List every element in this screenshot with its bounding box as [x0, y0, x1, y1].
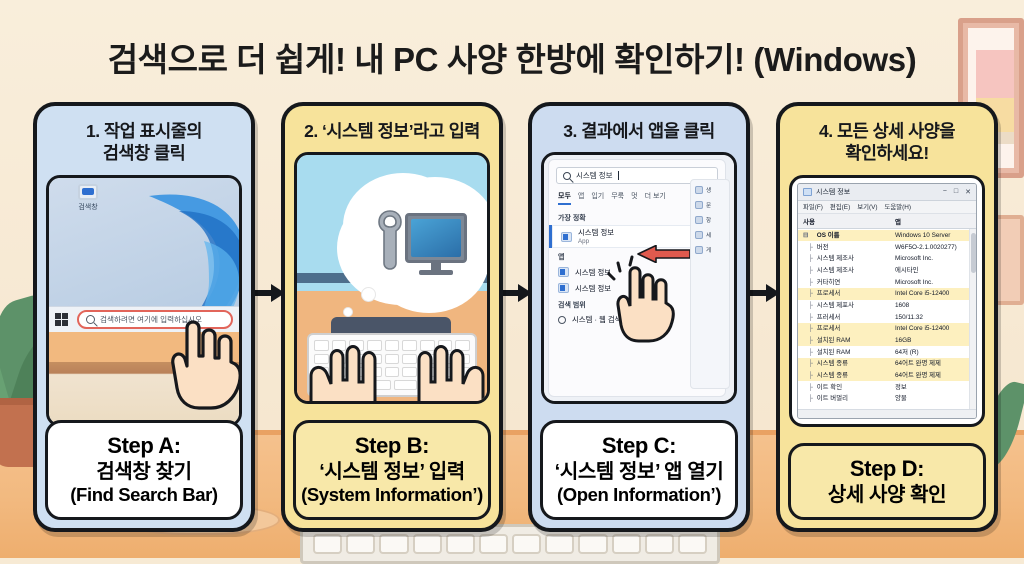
row-label: ├ 설치된 RAM: [803, 336, 895, 345]
document-icon: [695, 201, 703, 209]
row-value: 정보: [895, 383, 971, 392]
panel-2-footer: Step B: ‘시스템 정보’ 입력 (System Information’…: [293, 420, 491, 520]
system-info-app-icon: [803, 188, 812, 196]
pointing-hand-cursor-icon: [608, 251, 680, 343]
row-label: ├ 설치된 RAM: [803, 348, 895, 357]
column-header-item: 사용: [803, 216, 895, 226]
panel-1-header: 1. 작업 표시줄의 검색창 클릭: [37, 106, 251, 175]
table-row[interactable]: ├ 버전W6F5O-2.1.0020277): [798, 241, 976, 253]
tree-branch-icon: ├: [803, 336, 815, 345]
tree-collapse-icon[interactable]: ⊟: [803, 231, 815, 240]
row-label: ├ 커타히연: [803, 278, 895, 287]
window-controls[interactable]: − □ ✕: [943, 188, 971, 196]
window-titlebar: 시스템 정보 − □ ✕: [798, 184, 976, 201]
key: [313, 534, 342, 554]
table-row[interactable]: ├ 프로세서Intel Core i5-12400: [798, 323, 976, 335]
panel-2-header-line1: 2. ‘시스템 정보’라고 입력: [293, 120, 491, 142]
side-pane-label: 문: [706, 201, 711, 209]
table-row[interactable]: ├ 프로세서Intel Core i5-12400: [798, 288, 976, 300]
row-label: ⊟ OS 이름: [803, 231, 895, 240]
step-panel-2: 2. ‘시스템 정보’라고 입력: [281, 102, 503, 532]
panel-1-header-line1: 1. 작업 표시줄의: [45, 120, 243, 142]
tree-branch-icon: ├: [803, 266, 815, 275]
row-label: ├ 프러세서: [803, 313, 895, 322]
side-pane-item[interactable]: 세: [695, 231, 725, 239]
key: [479, 534, 508, 554]
side-pane-label: 게: [706, 246, 711, 254]
side-pane-label: 생: [706, 186, 711, 194]
table-row[interactable]: ├ 이트 확인정보: [798, 381, 976, 393]
tree-branch-icon: ├: [803, 371, 815, 380]
key: [379, 534, 408, 554]
row-label: ├ 이트 확인: [803, 383, 895, 392]
folder-icon: [78, 184, 98, 200]
maximize-button[interactable]: □: [954, 188, 958, 196]
monitor-icon: [405, 213, 467, 263]
tree-branch-icon: ├: [803, 278, 815, 287]
row-value: W6F5O-2.1.0020277): [895, 243, 971, 252]
search-result-text: 시스템 정보 App: [578, 228, 614, 245]
system-information-window: 시스템 정보 − □ ✕ 파일(F) 편집(E) 보기(V) 도움말(H) 사용…: [797, 183, 977, 419]
tab-more-short[interactable]: 멋: [631, 191, 637, 205]
panel-4-step-label: Step D:: [795, 456, 979, 483]
panel-4-header-line2: 확인하세요!: [788, 142, 986, 164]
tab-all[interactable]: 모두: [558, 191, 571, 205]
search-icon: [558, 316, 566, 324]
search-icon: [563, 172, 571, 180]
step-panel-4: 4. 모든 상세 사양을 확인하세요! 시스템 정보 − □ ✕ 파일(F) 편…: [776, 102, 998, 532]
monitor-base: [419, 270, 453, 275]
scrollbar-thumb[interactable]: [971, 233, 976, 273]
pin-icon: [695, 246, 703, 254]
search-icon: [86, 315, 95, 324]
page-title: 검색으로 더 쉽게! 내 PC 사양 한방에 확인하기! (Windows): [0, 33, 1024, 81]
windows-start-icon[interactable]: [55, 313, 68, 326]
row-value: Intel Core i5-12400: [895, 324, 971, 333]
table-row[interactable]: ⊟ OS 이름Windows 10 Server: [798, 230, 976, 242]
panel-4-screenshot: 시스템 정보 − □ ✕ 파일(F) 편집(E) 보기(V) 도움말(H) 사용…: [789, 175, 985, 427]
key: [578, 534, 607, 554]
flow-arrow-icon: [251, 283, 285, 303]
tree-branch-icon: ├: [803, 243, 815, 252]
panel-2-illustration: [294, 152, 490, 404]
system-info-app-icon: [558, 267, 569, 277]
side-pane-item[interactable]: 문: [695, 201, 725, 209]
table-row[interactable]: ├ 커타히연Microsoft Inc.: [798, 276, 976, 288]
row-value: 64어트 완명 제제: [895, 359, 971, 368]
flow-arrow-icon: [746, 283, 780, 303]
minimize-button[interactable]: −: [943, 188, 947, 196]
panel-1-step-korean: 검색창 찾기: [52, 460, 236, 484]
panel-3-step-english: (Open Information’): [547, 484, 731, 507]
wrench-icon: [377, 209, 403, 271]
window-title: 시스템 정보: [816, 187, 850, 197]
panel-1-step-english: (Find Search Bar): [52, 484, 236, 507]
panel-4-footer: Step D: 상세 사양 확인: [788, 443, 986, 520]
row-value: Microsoft Inc.: [895, 254, 971, 263]
row-label: ├ 프로세서: [803, 324, 895, 333]
search-result-type: App: [578, 238, 614, 246]
search-query-text: 시스템 정보: [576, 170, 613, 181]
row-value: Microsoft Inc.: [895, 278, 971, 287]
window-statusbar: [798, 409, 976, 418]
row-label: ├ 시스템 종류: [803, 371, 895, 380]
table-header: 사용 앱: [798, 214, 976, 229]
folder-icon: [695, 216, 703, 224]
key: [545, 534, 574, 554]
row-label: ├ 시스템 종류: [803, 359, 895, 368]
row-value: 64어트 완명 제제: [895, 371, 971, 380]
window-menubar[interactable]: 파일(F) 편집(E) 보기(V) 도움말(H): [798, 201, 976, 214]
table-rows-container: ⊟ OS 이름Windows 10 Server ├ 버전W6F5O-2.1.0…: [798, 230, 976, 405]
panel-4-step-korean: 상세 사양 확인: [795, 483, 979, 507]
open-icon: [695, 186, 703, 194]
key: [413, 534, 442, 554]
panel-2-header: 2. ‘시스템 정보’라고 입력: [285, 106, 499, 152]
side-pane-item[interactable]: 생: [695, 186, 725, 194]
system-info-app-icon: [561, 232, 572, 242]
table-row[interactable]: ├ 프러세서150/11.32: [798, 311, 976, 323]
row-value: 에시타인: [895, 266, 971, 275]
menu-edit[interactable]: 편집(E): [830, 202, 850, 211]
panel-3-step-korean: ‘시스템 정보’ 앱 열기: [547, 460, 731, 484]
column-header-value: 앱: [895, 216, 971, 226]
tree-branch-icon: ├: [803, 359, 815, 368]
table-row[interactable]: ├ 시스템 종류64어트 완명 제제: [798, 358, 976, 370]
key: [446, 534, 475, 554]
table-row[interactable]: ├ 이트 버멀리양물: [798, 393, 976, 405]
flow-arrow-icon: [498, 283, 532, 303]
panel-1-screenshot: 검색창 검색하려면 여기에 입력하십시오: [46, 175, 242, 427]
system-info-table[interactable]: ⊟ OS 이름Windows 10 Server ├ 버전W6F5O-2.1.0…: [798, 229, 976, 409]
row-value: 150/11.32: [895, 313, 971, 322]
desktop-icon-label: 검색창: [75, 202, 101, 212]
row-label: ├ 이트 버멀리: [803, 394, 895, 403]
search-result-name: 시스템 정보: [578, 228, 614, 237]
step-panel-1: 1. 작업 표시줄의 검색창 클릭 검색창 검색하려면 여기에 입력하십시오: [33, 102, 255, 532]
menu-help[interactable]: 도움말(H): [884, 202, 911, 211]
system-info-app-icon: [558, 283, 569, 293]
table-row[interactable]: ├ 시스템 제조사Microsoft Inc.: [798, 253, 976, 265]
row-value: 양물: [895, 394, 971, 403]
panel-3-header-line1: 3. 결과에서 앱을 클릭: [540, 120, 738, 142]
pin-icon: [695, 231, 703, 239]
row-value: Intel Core i5-12400: [895, 289, 971, 298]
panel-4-header: 4. 모든 상세 사양을 확인하세요!: [780, 106, 994, 175]
tree-branch-icon: ├: [803, 324, 815, 333]
search-result-name: 시스템 정보: [575, 268, 611, 277]
row-label: ├ 시스템 제조사: [803, 266, 895, 275]
tree-branch-icon: ├: [803, 289, 815, 298]
table-row[interactable]: ├ 시스템 제포사1608: [798, 300, 976, 312]
key: [512, 534, 541, 554]
pointing-hand-cursor-icon: [161, 302, 242, 412]
row-value: 64저 (R): [895, 348, 971, 357]
panel-1-footer: Step A: 검색창 찾기 (Find Search Bar): [45, 420, 243, 520]
desktop-icon-search[interactable]: 검색창: [75, 184, 101, 212]
menu-file[interactable]: 파일(F): [803, 202, 823, 211]
close-button[interactable]: ✕: [965, 188, 971, 196]
table-row[interactable]: ├ 설치된 RAM16GB: [798, 335, 976, 347]
panel-3-screenshot: 시스템 정보 모두 앱 입기 무룩 멋 더 보기 가장 정확 시스템 정보 Ap…: [541, 152, 737, 404]
side-pane-item[interactable]: 항: [695, 216, 725, 224]
panel-1-step-label: Step A:: [52, 433, 236, 460]
row-label: ├ 버전: [803, 243, 895, 252]
thought-bubble: [351, 179, 483, 297]
panel-2-step-label: Step B:: [300, 433, 484, 460]
row-label: ├ 시스템 제조사: [803, 254, 895, 263]
step-panel-3: 3. 결과에서 앱을 클릭 시스템 정보 모두 앱 입기 무룩 멋 더 보기 가…: [528, 102, 750, 532]
tree-branch-icon: ├: [803, 383, 815, 392]
tree-branch-icon: ├: [803, 313, 815, 322]
tab-apps[interactable]: 앱: [578, 191, 584, 205]
panel-3-step-label: Step C:: [547, 433, 731, 460]
side-pane-item[interactable]: 게: [695, 246, 725, 254]
panel-1-header-line2: 검색창 클릭: [45, 142, 243, 164]
key: [346, 534, 375, 554]
panel-2-step-korean: ‘시스템 정보’ 입력: [300, 460, 484, 484]
table-row[interactable]: ├ 설치된 RAM64저 (R): [798, 346, 976, 358]
key: [645, 534, 674, 554]
monitor-screen: [411, 219, 461, 257]
panel-4-header-line1: 4. 모든 상세 사양을: [788, 120, 986, 142]
key: [612, 534, 641, 554]
panel-3-footer: Step C: ‘시스템 정보’ 앱 열기 (Open Information’…: [540, 420, 738, 520]
tree-branch-icon: ├: [803, 394, 815, 403]
start-menu-side-pane: 생 문 항 세 게: [690, 179, 730, 389]
menu-view[interactable]: 보기(V): [857, 202, 877, 211]
tree-branch-icon: ├: [803, 348, 815, 357]
tab-documents[interactable]: 입기: [591, 191, 604, 205]
tab-more[interactable]: 더 보기: [645, 191, 666, 205]
table-row[interactable]: ├ 시스템 종류64어트 완명 제제: [798, 370, 976, 382]
side-pane-label: 세: [706, 231, 711, 239]
side-pane-label: 항: [706, 216, 711, 224]
row-value: 1608: [895, 301, 971, 310]
vertical-scrollbar[interactable]: [969, 229, 976, 409]
panel-2-step-english: (System Information’): [300, 484, 484, 507]
row-label: ├ 프로세서: [803, 289, 895, 298]
row-value: Windows 10 Server: [895, 231, 971, 240]
key: [678, 534, 707, 554]
text-caret: [618, 171, 619, 180]
typing-hands-illustration: [297, 324, 490, 404]
search-result-name: 시스템 정보: [575, 284, 611, 293]
tree-branch-icon: ├: [803, 254, 815, 263]
tree-branch-icon: ├: [803, 301, 815, 310]
table-row[interactable]: ├ 시스템 제조사에시타인: [798, 265, 976, 277]
row-value: 16GB: [895, 336, 971, 345]
tab-web[interactable]: 무룩: [611, 191, 624, 205]
row-label: ├ 시스템 제포사: [803, 301, 895, 310]
panel-3-header: 3. 결과에서 앱을 클릭: [532, 106, 746, 152]
